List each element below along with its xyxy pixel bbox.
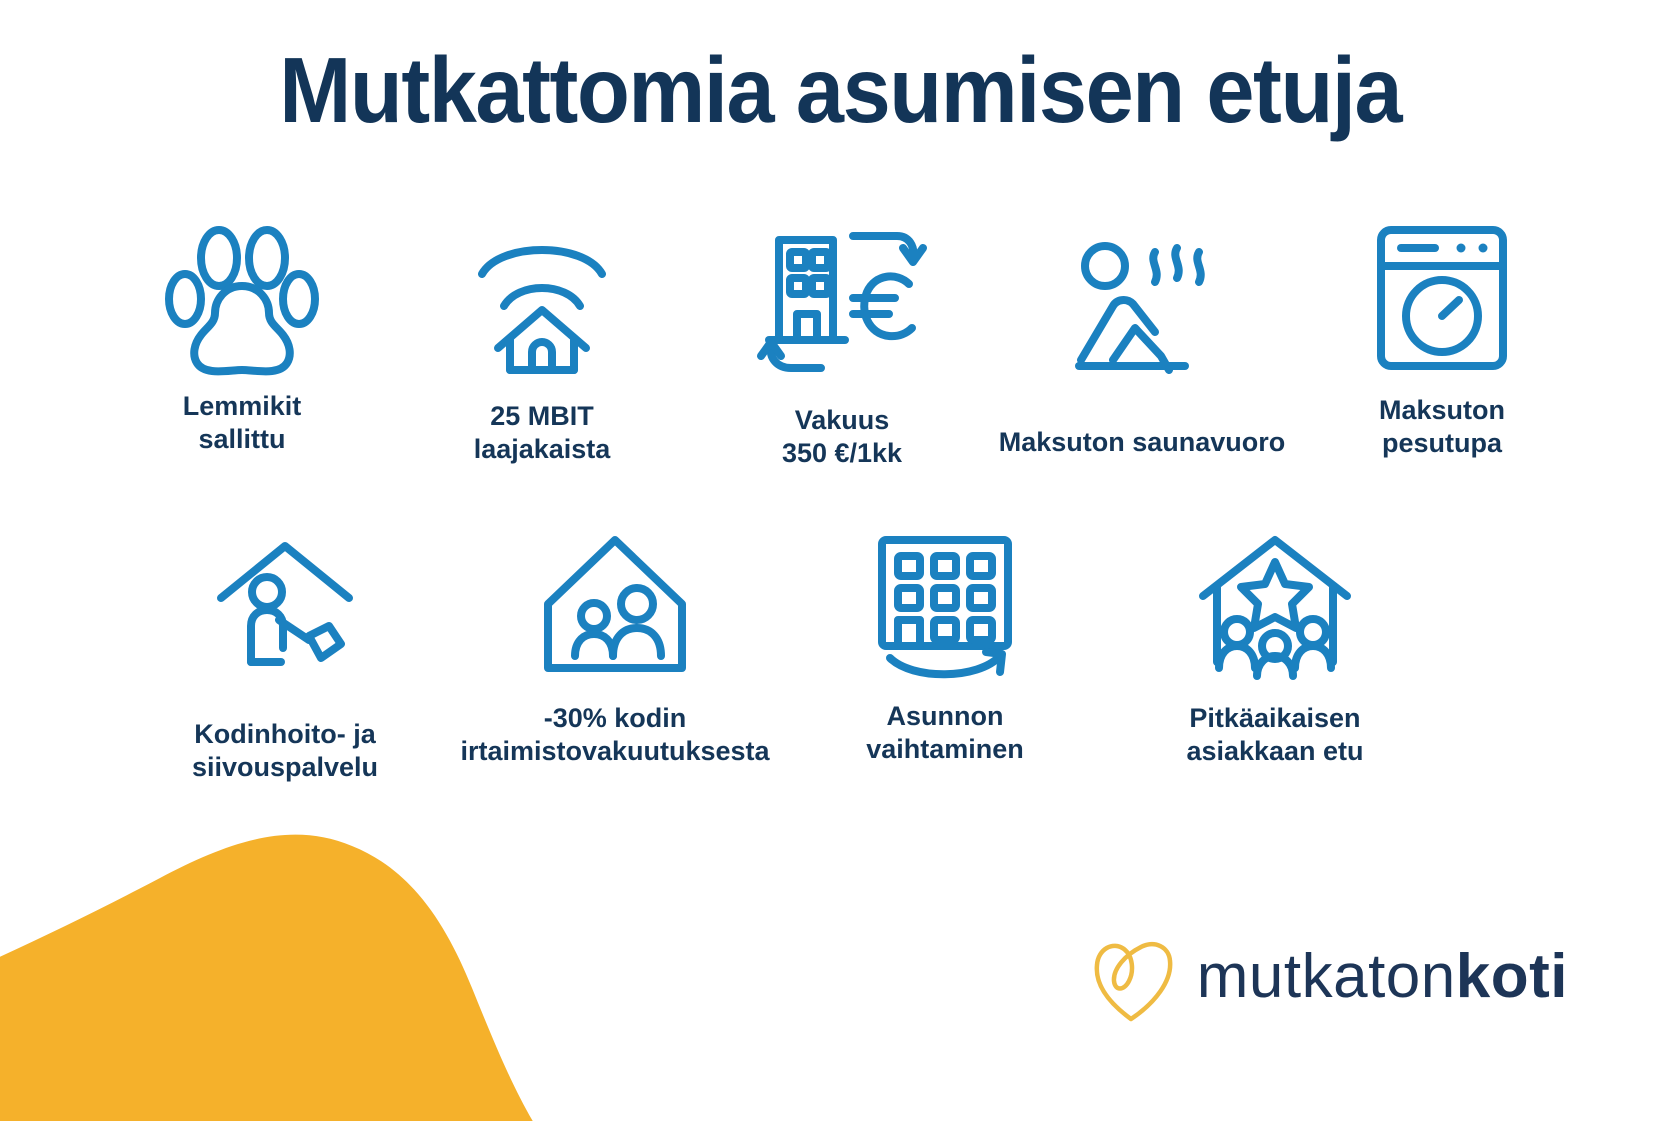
benefit-item-laundry[interactable]: Maksuton pesutupa xyxy=(1292,212,1592,471)
logo-word-bold: koti xyxy=(1456,942,1568,1011)
benefit-icon-wrapper xyxy=(163,212,321,372)
benefit-item-broadband[interactable]: 25 MBIT laajakaista xyxy=(392,212,692,471)
brand-logo[interactable]: mutkatonkoti xyxy=(1091,929,1568,1025)
sauna-bather-icon xyxy=(1069,236,1215,372)
benefit-item-deposit[interactable]: Vakuus 350 €/1kk xyxy=(692,212,992,471)
heart-swirl-icon xyxy=(1091,929,1175,1025)
benefit-label-insurance: -30% kodin irtaimistovakuutuksesta xyxy=(460,702,769,769)
benefit-label-sauna: Maksuton saunavuoro xyxy=(999,426,1286,459)
house-family-icon xyxy=(540,534,690,680)
page-title: Mutkattomia asumisen etuja xyxy=(0,44,1680,137)
benefit-label-cleaning: Kodinhoito- ja siivouspalvelu xyxy=(192,718,378,785)
benefit-icon-wrapper xyxy=(1069,212,1215,372)
decorative-yellow-blob xyxy=(0,800,620,1121)
logo-word-light: mutkaton xyxy=(1197,942,1456,1011)
benefits-row-1: Lemmikit sallittu 25 MBIT laajakaista xyxy=(92,212,1592,471)
paw-print-icon xyxy=(163,220,321,372)
apartment-swap-icon xyxy=(872,534,1018,680)
benefit-label-broadband: 25 MBIT laajakaista xyxy=(474,400,611,467)
benefit-label-laundry: Maksuton pesutupa xyxy=(1379,394,1505,461)
benefit-icon-wrapper xyxy=(540,520,690,680)
benefit-label-deposit: Vakuus 350 €/1kk xyxy=(782,404,902,471)
benefit-label-loyalty: Pitkäaikaisen asiakkaan etu xyxy=(1186,702,1363,769)
benefit-icon-wrapper xyxy=(1375,212,1509,372)
benefit-item-cleaning[interactable]: Kodinhoito- ja siivouspalvelu xyxy=(120,520,450,785)
benefit-item-loyalty[interactable]: Pitkäaikaisen asiakkaan etu xyxy=(1110,520,1440,785)
building-euro-exchange-icon xyxy=(757,222,927,372)
benefit-icon-wrapper xyxy=(1197,520,1353,680)
benefit-icon-wrapper xyxy=(217,520,353,680)
benefit-item-sauna[interactable]: Maksuton saunavuoro xyxy=(992,212,1292,471)
wifi-house-icon xyxy=(476,232,608,372)
benefit-icon-wrapper xyxy=(872,520,1018,680)
benefit-label-apartment-swap: Asunnon vaihtaminen xyxy=(866,700,1024,767)
benefits-row-2: Kodinhoito- ja siivouspalvelu -30 xyxy=(120,520,1440,785)
benefit-icon-wrapper xyxy=(476,212,608,372)
washing-machine-icon xyxy=(1375,224,1509,372)
benefit-item-pets[interactable]: Lemmikit sallittu xyxy=(92,212,392,471)
benefit-label-pets: Lemmikit sallittu xyxy=(183,390,302,457)
logo-wordmark: mutkatonkoti xyxy=(1197,946,1568,1008)
benefit-item-apartment-swap[interactable]: Asunnon vaihtaminen xyxy=(780,520,1110,785)
page-title-text: Mutkattomia asumisen etuja xyxy=(279,44,1401,137)
home-cleaning-person-icon xyxy=(217,540,353,680)
benefit-icon-wrapper xyxy=(757,212,927,372)
house-star-family-icon xyxy=(1197,534,1353,680)
benefit-item-insurance[interactable]: -30% kodin irtaimistovakuutuksesta xyxy=(450,520,780,785)
infographic-poster: Mutkattomia asumisen etuja Lemmikit sall… xyxy=(0,0,1680,1121)
